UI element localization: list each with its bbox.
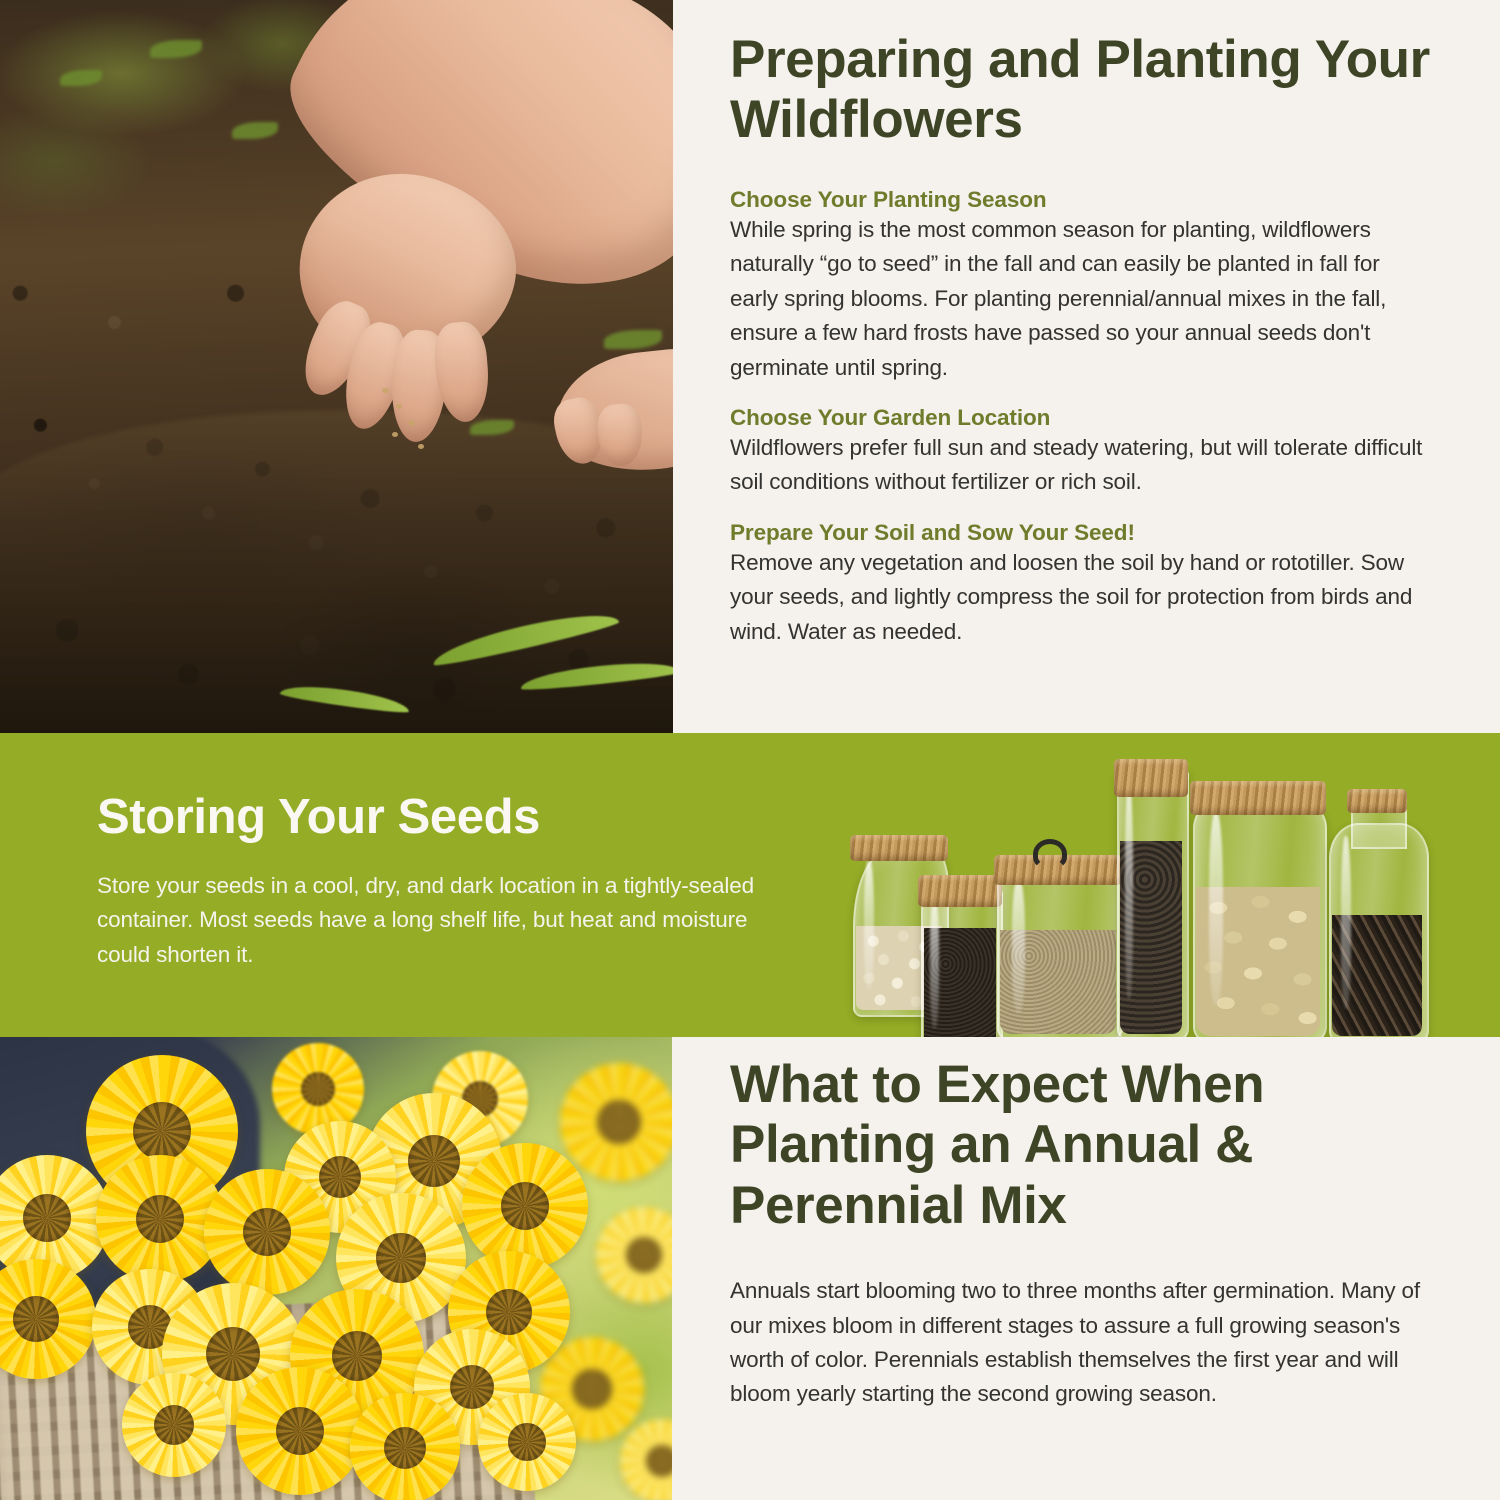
storing-text-column: Storing Your Seeds Store your seeds in a…	[97, 791, 757, 972]
expect-title: What to Expect When Planting an Annual &…	[730, 1055, 1430, 1236]
falling-seed	[396, 404, 402, 409]
infographic-page: Preparing and Planting Your Wildflowers …	[0, 0, 1500, 1500]
jar-highlight	[1209, 813, 1223, 1005]
falling-seed	[408, 420, 415, 426]
cork-lid-icon	[1347, 789, 1407, 813]
cork-lid-icon	[1190, 781, 1326, 815]
flower-bloom	[350, 1393, 460, 1500]
planting-block-season: Choose Your Planting Season While spring…	[730, 187, 1430, 385]
jar-black-seed	[921, 887, 999, 1051]
falling-seed	[382, 388, 389, 393]
flower-bloom	[560, 1063, 672, 1181]
paragraph-planting-season: While spring is the most common season f…	[730, 213, 1430, 385]
flower-bloom	[204, 1169, 330, 1295]
jar-sunflower-seed	[1329, 823, 1425, 1039]
storing-title: Storing Your Seeds	[97, 791, 757, 845]
jar-highlight	[1012, 879, 1025, 1013]
paragraph-prepare-soil: Remove any vegetation and loosen the soi…	[730, 546, 1430, 649]
yellow-zinnias-photo	[0, 1037, 672, 1500]
subheading-planting-season: Choose Your Planting Season	[730, 187, 1430, 213]
cork-lid-icon	[850, 835, 948, 861]
soil-planting-photo	[0, 0, 673, 733]
storing-paragraph: Store your seeds in a cool, dry, and dar…	[97, 869, 757, 972]
lid-knob-icon	[1033, 839, 1067, 869]
subheading-prepare-soil: Prepare Your Soil and Sow Your Seed!	[730, 520, 1430, 546]
flower-bloom	[236, 1367, 364, 1495]
page-title: Preparing and Planting Your Wildflowers	[730, 30, 1430, 151]
cork-lid-icon	[1114, 759, 1188, 797]
flower-bloom	[122, 1373, 226, 1477]
planting-text-column: Preparing and Planting Your Wildflowers …	[730, 30, 1430, 649]
jar-highlight	[1125, 785, 1132, 999]
section-storing-your-seeds: Storing Your Seeds Store your seeds in a…	[0, 733, 1500, 1037]
subheading-garden-location: Choose Your Garden Location	[730, 405, 1430, 431]
jar-pumpkin-seed	[1193, 799, 1323, 1039]
expect-text-column: What to Expect When Planting an Annual &…	[730, 1055, 1430, 1412]
jar-tan-seed	[997, 869, 1119, 1037]
planting-block-soil: Prepare Your Soil and Sow Your Seed! Rem…	[730, 520, 1430, 649]
planting-block-location: Choose Your Garden Location Wildflowers …	[730, 405, 1430, 500]
section-preparing-and-planting: Preparing and Planting Your Wildflowers …	[0, 0, 1500, 733]
cork-lid-icon	[918, 875, 1002, 907]
jar-tall-dark-seed	[1117, 769, 1185, 1037]
falling-seed	[392, 432, 398, 437]
jar-highlight	[1341, 836, 1352, 1009]
paragraph-garden-location: Wildflowers prefer full sun and steady w…	[730, 431, 1430, 500]
flower-bloom	[478, 1393, 576, 1491]
expect-paragraph: Annuals start blooming two to three mont…	[730, 1274, 1430, 1412]
jar-highlight	[930, 897, 939, 1028]
falling-seed	[418, 444, 424, 449]
section-what-to-expect: What to Expect When Planting an Annual &…	[0, 1037, 1500, 1500]
flower-bloom	[462, 1143, 588, 1269]
jar-highlight	[864, 861, 874, 991]
seed-jars-photo	[845, 751, 1485, 1036]
